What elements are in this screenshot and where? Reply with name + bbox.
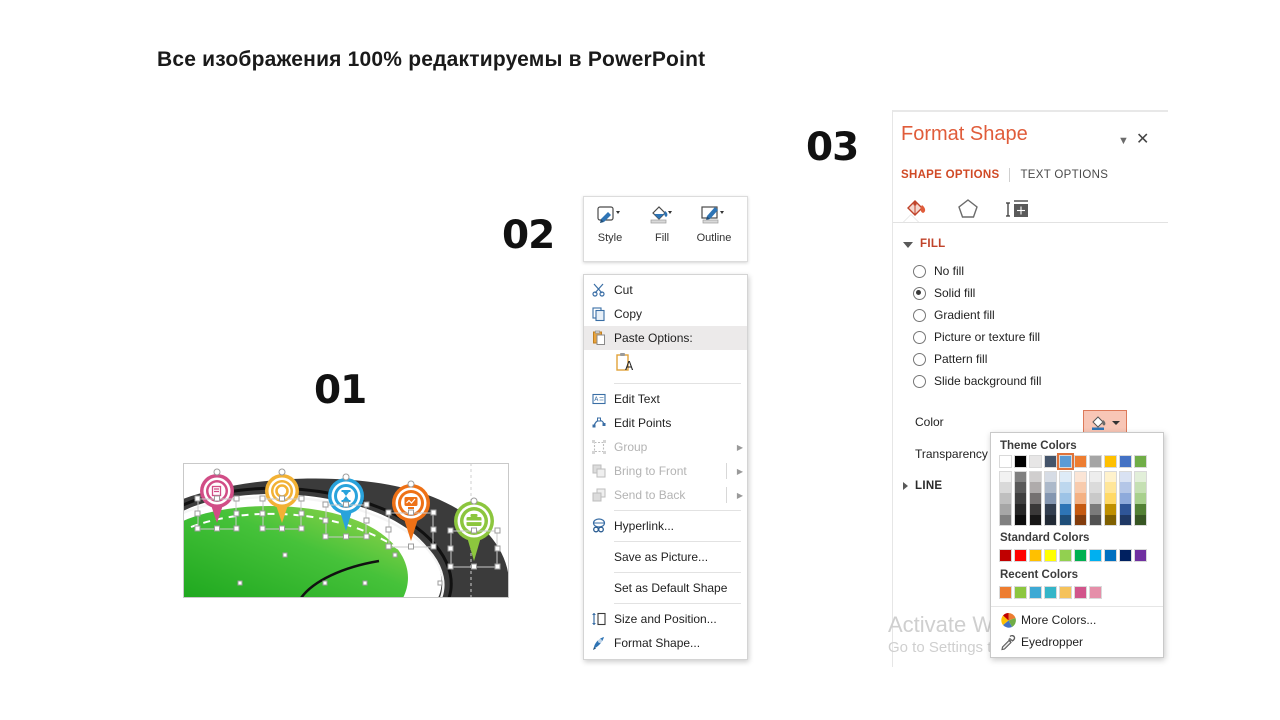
theme-color-variant-swatch[interactable]	[1089, 504, 1102, 515]
theme-color-swatch[interactable]	[1029, 455, 1042, 468]
fill-section-title: FILL	[920, 238, 945, 250]
step-number-03: 03	[806, 125, 858, 170]
theme-color-variant-swatch[interactable]	[1134, 482, 1147, 493]
dropdown-divider	[991, 606, 1163, 607]
radio-circle[interactable]	[913, 265, 926, 278]
standard-color-swatch[interactable]	[1119, 549, 1132, 562]
context-menu-item-cut[interactable]: Cut	[584, 278, 747, 302]
theme-color-variant-swatch[interactable]	[1119, 471, 1132, 482]
theme-color-variant-swatch[interactable]	[1044, 504, 1057, 515]
context-menu-label-format-shape: Format Shape...	[614, 636, 747, 650]
theme-color-swatch[interactable]	[1134, 455, 1147, 468]
context-menu-label-size-and-position: Size and Position...	[614, 612, 747, 626]
recent-color-swatch[interactable]	[999, 586, 1012, 599]
radio-label-picture-or-texture-fill: Picture or texture fill	[934, 330, 1040, 344]
theme-color-variant-swatch[interactable]	[1059, 493, 1072, 504]
step-number-01: 01	[314, 368, 366, 413]
standard-color-swatch[interactable]	[1014, 549, 1027, 562]
theme-color-swatch[interactable]	[1119, 455, 1132, 468]
theme-color-variant-swatch[interactable]	[1074, 504, 1087, 515]
radio-label-slide-background-fill: Slide background fill	[934, 374, 1041, 388]
panel-top-border	[893, 110, 1168, 112]
color-label: Color	[915, 415, 944, 429]
radio-circle[interactable]	[913, 353, 926, 366]
submenu-arrow-icon: ▶	[733, 491, 747, 500]
svg-text:A: A	[625, 359, 634, 373]
theme-color-swatch[interactable]	[1074, 455, 1087, 468]
context-menu-item-set-as-default-shape[interactable]: Set as Default Shape	[584, 576, 747, 600]
paste-icon	[584, 330, 614, 346]
group-icon	[584, 439, 614, 455]
more-colors-action[interactable]: More Colors...	[991, 609, 1163, 631]
context-menu-label-set-as-default-shape: Set as Default Shape	[614, 581, 747, 595]
context-menu[interactable]: Cut Copy Paste Options: A	[583, 274, 748, 660]
theme-color-variant-swatch[interactable]	[1014, 515, 1027, 526]
theme-color-variant-swatch[interactable]	[999, 504, 1012, 515]
theme-color-swatch[interactable]	[1044, 455, 1057, 468]
recent-color-swatch[interactable]	[1074, 586, 1087, 599]
theme-color-variant-swatch[interactable]	[1059, 515, 1072, 526]
context-menu-item-hyperlink[interactable]: Hyperlink...	[584, 514, 747, 538]
theme-color-column-4[interactable]	[1044, 455, 1057, 526]
eyedropper-icon	[995, 634, 1021, 651]
theme-color-column-3[interactable]	[1029, 455, 1042, 526]
theme-color-variant-swatch[interactable]	[1119, 504, 1132, 515]
step-number-02: 02	[502, 213, 554, 258]
theme-color-variant-swatch[interactable]	[1044, 515, 1057, 526]
theme-color-column-7[interactable]	[1089, 455, 1102, 526]
standard-color-swatch[interactable]	[1059, 549, 1072, 562]
theme-color-variant-swatch[interactable]	[1074, 471, 1087, 482]
theme-color-variant-swatch[interactable]	[1029, 482, 1042, 493]
mini-toolbar-outline-label: Outline	[688, 232, 740, 244]
line-section-header[interactable]: LINE	[903, 480, 942, 492]
more-colors-label: More Colors...	[1021, 613, 1096, 627]
theme-color-variant-swatch[interactable]	[1134, 471, 1147, 482]
theme-color-variant-swatch[interactable]	[1029, 515, 1042, 526]
context-menu-label-hyperlink: Hyperlink...	[614, 519, 747, 533]
tab-divider	[1009, 168, 1010, 182]
page-title: Все изображения 100% редактируемы в Powe…	[157, 48, 705, 72]
theme-colors-heading: Theme Colors	[991, 439, 1163, 455]
color-picker-dropdown[interactable]: Theme Colors Standard Colors Recent Colo…	[990, 432, 1164, 658]
theme-color-variant-swatch[interactable]	[1134, 504, 1147, 515]
theme-color-swatch[interactable]	[1089, 455, 1102, 468]
bring-front-icon	[584, 463, 614, 479]
context-menu-item-paste-options[interactable]: Paste Options:	[584, 326, 747, 350]
theme-color-variant-swatch[interactable]	[1074, 493, 1087, 504]
theme-color-variant-swatch[interactable]	[1089, 493, 1102, 504]
context-menu-item-edit-points[interactable]: Edit Points	[584, 411, 747, 435]
edit-text-icon: A	[584, 391, 614, 407]
active-icon-caret	[904, 215, 918, 222]
mini-toolbar-style-button[interactable]: Style	[584, 201, 636, 244]
tab-text-options[interactable]: TEXT OPTIONS	[1020, 169, 1108, 181]
theme-color-variant-swatch[interactable]	[1059, 482, 1072, 493]
theme-color-column-1[interactable]	[999, 455, 1012, 526]
radio-circle[interactable]	[913, 331, 926, 344]
eyedropper-label: Eyedropper	[1021, 635, 1083, 649]
radio-circle[interactable]	[913, 287, 926, 300]
context-menu-label-copy: Copy	[614, 307, 747, 321]
context-menu-item-edit-text[interactable]: A Edit Text	[584, 387, 747, 411]
theme-color-variant-swatch[interactable]	[1014, 482, 1027, 493]
standard-colors-row[interactable]	[991, 547, 1163, 565]
line-section-title: LINE	[915, 480, 942, 492]
context-menu-label-send-to-back: Send to Back	[614, 488, 733, 502]
context-menu-label-group: Group	[614, 440, 733, 454]
transparency-label: Transparency	[915, 447, 988, 461]
context-menu-label-bring-to-front: Bring to Front	[614, 464, 733, 478]
context-menu-label-edit-points: Edit Points	[614, 416, 747, 430]
standard-color-swatch[interactable]	[1074, 549, 1087, 562]
theme-color-swatch[interactable]	[999, 455, 1012, 468]
theme-color-variant-swatch[interactable]	[1119, 493, 1132, 504]
theme-color-variant-swatch[interactable]	[1044, 482, 1057, 493]
recent-color-swatch[interactable]	[1059, 586, 1072, 599]
context-menu-item-group[interactable]: Group ▶	[584, 435, 747, 459]
context-menu-divider-3	[614, 541, 741, 542]
theme-color-variant-swatch[interactable]	[1014, 504, 1027, 515]
standard-color-swatch[interactable]	[1044, 549, 1057, 562]
theme-color-swatch[interactable]	[1014, 455, 1027, 468]
chevron-down-icon[interactable]: ▼	[1118, 135, 1129, 147]
recent-color-swatch[interactable]	[1014, 586, 1027, 599]
theme-color-variant-swatch[interactable]	[1059, 471, 1072, 482]
theme-color-variant-swatch[interactable]	[1089, 471, 1102, 482]
mini-toolbar-fill-label: Fill	[636, 232, 688, 244]
size-position-icon	[584, 611, 614, 627]
eyedropper-action[interactable]: Eyedropper	[991, 631, 1163, 653]
theme-color-variant-swatch[interactable]	[1029, 493, 1042, 504]
context-menu-label-edit-text: Edit Text	[614, 392, 747, 406]
radio-picture-or-texture-fill[interactable]: Picture or texture fill	[913, 330, 1040, 344]
panel-tabs: SHAPE OPTIONS TEXT OPTIONS	[901, 168, 1108, 182]
paste-keep-text-only-icon[interactable]: A	[614, 351, 640, 380]
theme-color-variant-swatch[interactable]	[1089, 482, 1102, 493]
panel-icon-underline	[893, 222, 1168, 223]
fill-color-icon	[1091, 415, 1109, 431]
context-menu-item-bring-to-front[interactable]: Bring to Front ▶	[584, 459, 747, 483]
mini-toolbar-fill-button[interactable]: Fill	[636, 201, 688, 244]
chevron-down-icon[interactable]	[1112, 421, 1120, 425]
context-menu-label-paste-options: Paste Options:	[614, 331, 747, 345]
theme-color-variant-swatch[interactable]	[1089, 515, 1102, 526]
theme-color-variant-swatch[interactable]	[1134, 515, 1147, 526]
theme-color-variant-swatch[interactable]	[1104, 471, 1117, 482]
context-menu-divider-2	[614, 510, 741, 511]
radio-pattern-fill[interactable]: Pattern fill	[913, 352, 987, 366]
edit-points-icon	[584, 415, 614, 431]
mini-toolbar-style-label: Style	[584, 232, 636, 244]
theme-color-variant-swatch[interactable]	[999, 482, 1012, 493]
pencil-outline-icon	[688, 201, 740, 231]
radio-label-pattern-fill: Pattern fill	[934, 352, 987, 366]
panel-icon-tabs	[901, 194, 1035, 224]
standard-color-swatch[interactable]	[999, 549, 1012, 562]
tab-shape-options[interactable]: SHAPE OPTIONS	[901, 169, 999, 181]
recent-color-swatch[interactable]	[1029, 586, 1042, 599]
context-menu-label-save-as-picture: Save as Picture...	[614, 550, 747, 564]
theme-color-variant-swatch[interactable]	[999, 471, 1012, 482]
theme-color-variant-swatch[interactable]	[999, 515, 1012, 526]
context-menu-divider-4	[614, 572, 741, 573]
context-menu-divider-1	[614, 383, 741, 384]
theme-color-variant-swatch[interactable]	[1044, 471, 1057, 482]
theme-color-swatch[interactable]	[1059, 455, 1072, 468]
theme-color-variant-swatch[interactable]	[1059, 504, 1072, 515]
standard-color-swatch[interactable]	[1104, 549, 1117, 562]
context-menu-divider-5	[614, 603, 741, 604]
recent-colors-row[interactable]	[991, 584, 1163, 602]
effects-pentagon-icon[interactable]	[951, 194, 985, 224]
theme-color-column-5[interactable]	[1059, 455, 1072, 526]
theme-color-variant-swatch[interactable]	[1044, 493, 1057, 504]
theme-color-variant-swatch[interactable]	[1029, 504, 1042, 515]
theme-colors-grid[interactable]	[991, 455, 1163, 526]
theme-color-variant-swatch[interactable]	[1074, 515, 1087, 526]
theme-color-variant-swatch[interactable]	[1029, 471, 1042, 482]
copy-icon	[584, 306, 614, 322]
radio-label-gradient-fill: Gradient fill	[934, 308, 995, 322]
theme-color-swatch[interactable]	[1104, 455, 1117, 468]
standard-color-swatch[interactable]	[1089, 549, 1102, 562]
send-back-icon	[584, 487, 614, 503]
theme-color-column-10[interactable]	[1134, 455, 1147, 526]
standard-color-swatch[interactable]	[1134, 549, 1147, 562]
context-menu-item-copy[interactable]: Copy	[584, 302, 747, 326]
paste-options-row[interactable]: A	[584, 350, 747, 380]
standard-color-swatch[interactable]	[1029, 549, 1042, 562]
submenu-arrow-icon: ▶	[733, 443, 747, 452]
radio-gradient-fill[interactable]: Gradient fill	[913, 308, 995, 322]
theme-color-column-2[interactable]	[1014, 455, 1027, 526]
caret-expanded-icon	[903, 242, 913, 248]
context-menu-item-save-as-picture[interactable]: Save as Picture...	[584, 545, 747, 569]
theme-color-column-6[interactable]	[1074, 455, 1087, 526]
recent-color-swatch[interactable]	[1044, 586, 1057, 599]
radio-solid-fill[interactable]: Solid fill	[913, 286, 975, 300]
radio-circle[interactable]	[913, 375, 926, 388]
mini-toolbar-outline-button[interactable]: Outline	[688, 201, 740, 244]
radio-no-fill[interactable]: No fill	[913, 264, 964, 278]
theme-color-variant-swatch[interactable]	[999, 493, 1012, 504]
radio-circle[interactable]	[913, 309, 926, 322]
close-icon[interactable]: ✕	[1136, 129, 1149, 149]
hyperlink-icon	[584, 518, 614, 534]
radio-label-solid-fill: Solid fill	[934, 286, 975, 300]
theme-color-variant-swatch[interactable]	[1104, 493, 1117, 504]
scissors-icon	[584, 282, 614, 298]
submenu-arrow-icon: ▶	[733, 467, 747, 476]
theme-color-variant-swatch[interactable]	[1074, 482, 1087, 493]
context-menu-item-format-shape[interactable]: Format Shape...	[584, 631, 747, 655]
more-colors-icon	[995, 612, 1021, 629]
shape-style-icon	[584, 201, 636, 231]
theme-color-variant-swatch[interactable]	[1014, 471, 1027, 482]
radio-slide-background-fill[interactable]: Slide background fill	[913, 374, 1041, 388]
format-shape-icon	[584, 635, 614, 651]
context-menu-label-cut: Cut	[614, 283, 747, 297]
paint-bucket-icon	[636, 201, 688, 231]
caret-collapsed-icon	[903, 482, 908, 490]
context-menu-item-send-to-back[interactable]: Send to Back ▶	[584, 483, 747, 507]
theme-color-variant-swatch[interactable]	[1104, 504, 1117, 515]
theme-color-variant-swatch[interactable]	[1104, 482, 1117, 493]
recent-color-swatch[interactable]	[1089, 586, 1102, 599]
theme-color-variant-swatch[interactable]	[1134, 493, 1147, 504]
panel-title: Format Shape	[901, 123, 1028, 146]
radio-label-no-fill: No fill	[934, 264, 964, 278]
theme-color-variant-swatch[interactable]	[1014, 493, 1027, 504]
theme-color-column-8[interactable]	[1104, 455, 1117, 526]
roadmap-infographic[interactable]	[183, 463, 509, 598]
fill-section-header[interactable]: FILL	[903, 238, 945, 250]
theme-color-variant-swatch[interactable]	[1119, 515, 1132, 526]
theme-color-column-9[interactable]	[1119, 455, 1132, 526]
theme-color-variant-swatch[interactable]	[1119, 482, 1132, 493]
context-menu-item-size-and-position[interactable]: Size and Position...	[584, 607, 747, 631]
theme-color-variant-swatch[interactable]	[1104, 515, 1117, 526]
size-and-properties-icon[interactable]	[1001, 194, 1035, 224]
standard-colors-heading: Standard Colors	[991, 526, 1163, 547]
mini-toolbar[interactable]: Style Fill Outline	[583, 196, 748, 262]
recent-colors-heading: Recent Colors	[991, 565, 1163, 584]
